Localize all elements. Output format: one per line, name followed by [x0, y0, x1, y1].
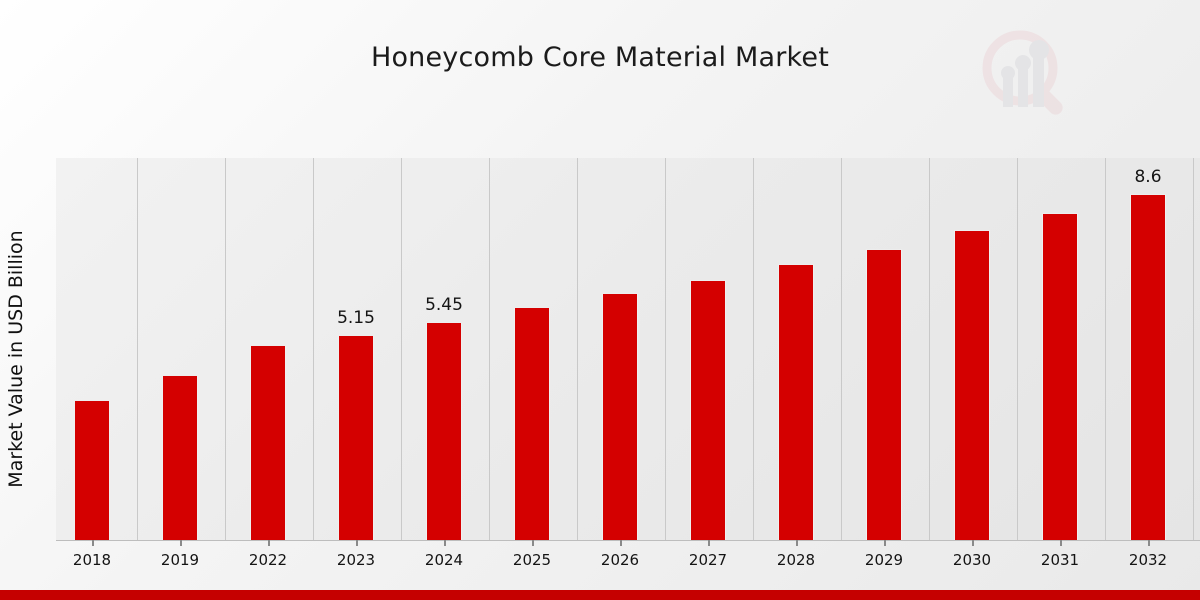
bar-2030[interactable]: [954, 230, 990, 540]
x-axis-tick-label-2026: 2026: [580, 551, 660, 569]
bar-2028[interactable]: [778, 264, 814, 540]
x-axis-tick-label-2028: 2028: [756, 551, 836, 569]
bar-2032[interactable]: [1130, 194, 1166, 540]
plot-area: [56, 158, 1200, 540]
gridline: [929, 158, 930, 540]
bar-2026[interactable]: [602, 293, 638, 540]
gridline: [577, 158, 578, 540]
gridline: [665, 158, 666, 540]
gridline: [137, 158, 138, 540]
bar-2023[interactable]: [338, 335, 374, 540]
x-axis-line: [56, 540, 1200, 541]
x-axis-tick-label-2022: 2022: [228, 551, 308, 569]
bar-2019[interactable]: [162, 375, 198, 540]
gridline: [313, 158, 314, 540]
page-title: Honeycomb Core Material Market: [0, 42, 1200, 73]
x-axis-tick: [884, 540, 886, 546]
gridline: [1017, 158, 1018, 540]
gridline: [1193, 158, 1194, 540]
bar-value-label: 5.15: [316, 308, 396, 328]
bar-2018[interactable]: [74, 400, 110, 540]
bar-2024[interactable]: [426, 322, 462, 540]
bar-2031[interactable]: [1042, 213, 1078, 540]
x-axis-tick: [796, 540, 798, 546]
x-axis-tick: [92, 540, 94, 546]
gridline: [841, 158, 842, 540]
x-axis-tick-label-2025: 2025: [492, 551, 572, 569]
x-axis-tick: [532, 540, 534, 546]
x-axis-tick-label-2023: 2023: [316, 551, 396, 569]
x-axis-tick-label-2031: 2031: [1020, 551, 1100, 569]
x-axis-tick: [180, 540, 182, 546]
x-axis-tick-label-2024: 2024: [404, 551, 484, 569]
x-axis-tick: [444, 540, 446, 546]
bar-2025[interactable]: [514, 307, 550, 540]
bar-2027[interactable]: [690, 280, 726, 540]
bar-2022[interactable]: [250, 345, 286, 540]
x-axis-tick: [268, 540, 270, 546]
x-axis-tick-label-2032: 2032: [1108, 551, 1188, 569]
x-axis-tick-label-2018: 2018: [52, 551, 132, 569]
market-research-future-logo: [975, 25, 1075, 125]
footer-accent-bar: [0, 590, 1200, 600]
x-axis-tick-label-2030: 2030: [932, 551, 1012, 569]
x-axis-tick-label-2027: 2027: [668, 551, 748, 569]
y-axis-label: Market Value in USD Billion: [5, 159, 27, 559]
gridline: [753, 158, 754, 540]
x-axis-tick: [356, 540, 358, 546]
x-axis-tick: [1148, 540, 1150, 546]
x-axis-tick: [620, 540, 622, 546]
bar-2029[interactable]: [866, 249, 902, 540]
x-axis-tick: [972, 540, 974, 546]
x-axis-tick: [708, 540, 710, 546]
magnifier-bar-chart-icon: [975, 25, 1075, 125]
x-axis-tick-label-2029: 2029: [844, 551, 924, 569]
gridline: [225, 158, 226, 540]
bar-value-label: 8.6: [1108, 167, 1188, 187]
gridline: [1105, 158, 1106, 540]
x-axis-tick-label-2019: 2019: [140, 551, 220, 569]
chart-figure: Honeycomb Core Material Market Market Va…: [0, 0, 1200, 600]
x-axis-tick: [1060, 540, 1062, 546]
gridline: [401, 158, 402, 540]
bar-value-label: 5.45: [404, 295, 484, 315]
gridline: [489, 158, 490, 540]
